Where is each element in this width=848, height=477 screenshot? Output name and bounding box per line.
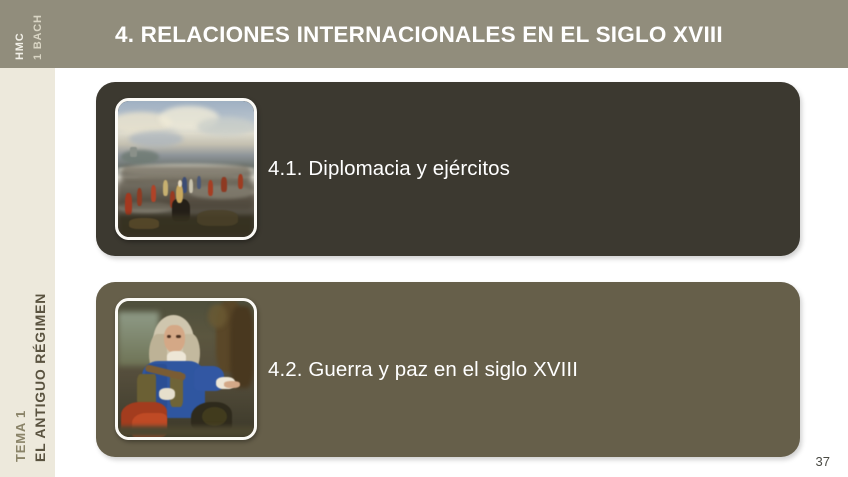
- section-card-4-1-label: 4.1. Diplomacia y ejércitos: [268, 157, 510, 181]
- section-card-4-1[interactable]: 4.1. Diplomacia y ejércitos: [96, 82, 800, 256]
- sidebar-top-band: [0, 0, 55, 68]
- header-band: 4. RELACIONES INTERNACIONALES EN EL SIGL…: [55, 0, 848, 68]
- section-card-4-2[interactable]: 4.2. Guerra y paz en el siglo XVIII: [96, 282, 800, 457]
- page-title: 4. RELACIONES INTERNACIONALES EN EL SIGL…: [115, 22, 723, 48]
- section-card-4-2-label: 4.2. Guerra y paz en el siglo XVIII: [268, 358, 578, 382]
- thumbnail-frame-royal-portrait: [115, 298, 257, 440]
- sidebar-subject-code: HMC: [14, 33, 26, 60]
- sidebar-unit-title: EL ANTIGUO RÉGIMEN: [32, 293, 48, 462]
- slide-canvas: HMC 1 BACH TEMA 1 EL ANTIGUO RÉGIMEN 4. …: [0, 0, 848, 477]
- sidebar: HMC 1 BACH TEMA 1 EL ANTIGUO RÉGIMEN: [0, 0, 55, 477]
- thumbnail-frame-battle-scene: [115, 98, 257, 240]
- royal-portrait-painting-icon: [118, 301, 254, 437]
- sidebar-unit-number: TEMA 1: [13, 410, 28, 462]
- sidebar-course-label: 1 BACH: [32, 14, 44, 60]
- battle-scene-painting-icon: [118, 101, 254, 237]
- page-number: 37: [816, 454, 830, 469]
